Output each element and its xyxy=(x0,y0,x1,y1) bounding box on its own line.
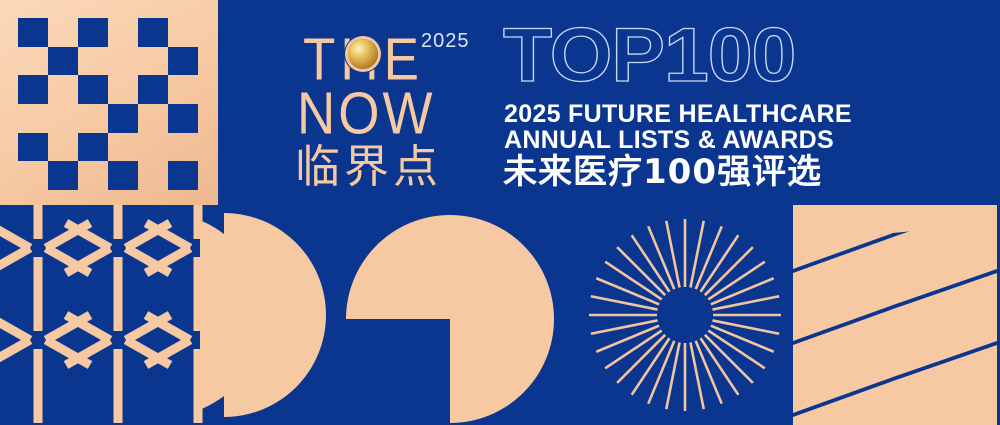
checker-cell xyxy=(78,133,108,162)
gold-orb-icon xyxy=(348,39,378,69)
checker-cell xyxy=(108,161,138,190)
checker-cell xyxy=(18,104,48,133)
checker-cell xyxy=(78,75,108,104)
checker-cell xyxy=(18,75,48,104)
checker-cell xyxy=(78,161,108,190)
sunburst-icon xyxy=(585,205,785,425)
checker-cell xyxy=(138,75,168,104)
checker-cell xyxy=(18,47,48,76)
checker-cell xyxy=(48,18,78,47)
sunburst-ray xyxy=(705,335,753,383)
subtitle-line-1: 2025 FUTURE HEALTHCARE xyxy=(504,102,852,127)
logo-now-text: NOW xyxy=(297,84,436,143)
checker-cell xyxy=(48,161,78,190)
checker-cell xyxy=(108,18,138,47)
checker-cell xyxy=(78,104,108,133)
checker-cell xyxy=(138,18,168,47)
checker-cell xyxy=(78,18,108,47)
checker-cell xyxy=(48,47,78,76)
hexagon-lattice-panel xyxy=(0,205,218,425)
checker-cell xyxy=(138,161,168,190)
hexagon-lattice-icon xyxy=(0,205,218,425)
sunburst-ray xyxy=(705,247,753,295)
page-title: TOP100 xyxy=(503,18,795,94)
sunburst-ray xyxy=(617,335,665,383)
award-banner: THE 2025 NOW 临界点 TOP100 2025 FUTURE HEAL… xyxy=(0,0,1000,425)
checkerboard-grid xyxy=(18,18,198,190)
checker-cell xyxy=(168,18,198,47)
checker-cell xyxy=(78,47,108,76)
checker-cell xyxy=(108,133,138,162)
checker-cell xyxy=(18,133,48,162)
checker-cell xyxy=(18,18,48,47)
sunburst-ray xyxy=(617,247,665,295)
chevron-stripes-panel xyxy=(785,205,1000,425)
checker-cell xyxy=(138,104,168,133)
checker-cell xyxy=(108,47,138,76)
checker-cell xyxy=(168,75,198,104)
checker-cell xyxy=(138,47,168,76)
checker-cell xyxy=(48,75,78,104)
checker-cell xyxy=(138,133,168,162)
the-now-logo: THE 2025 NOW 临界点 xyxy=(285,18,485,193)
checker-cell xyxy=(168,47,198,76)
subtitle-chinese: 未来医疗100强评选 xyxy=(503,154,822,190)
checker-cell xyxy=(108,104,138,133)
checker-cell xyxy=(168,133,198,162)
chevron-stripes-icon xyxy=(785,205,1000,425)
subtitle-line-2: ANNUAL LISTS & AWARDS xyxy=(504,128,834,153)
semicircle-shapes-icon xyxy=(200,205,595,425)
title-block: TOP100 2025 FUTURE HEALTHCARE ANNUAL LIS… xyxy=(503,20,843,195)
checker-cell xyxy=(18,161,48,190)
logo-year-text: 2025 xyxy=(421,31,470,51)
geometric-shapes-panel xyxy=(200,205,595,425)
checker-cell xyxy=(48,104,78,133)
logo-chinese-text: 临界点 xyxy=(295,144,442,189)
checker-cell xyxy=(48,133,78,162)
checker-cell xyxy=(168,104,198,133)
checkerboard-panel xyxy=(0,0,218,205)
checker-cell xyxy=(108,75,138,104)
checker-cell xyxy=(168,161,198,190)
sunburst-panel xyxy=(585,205,785,425)
